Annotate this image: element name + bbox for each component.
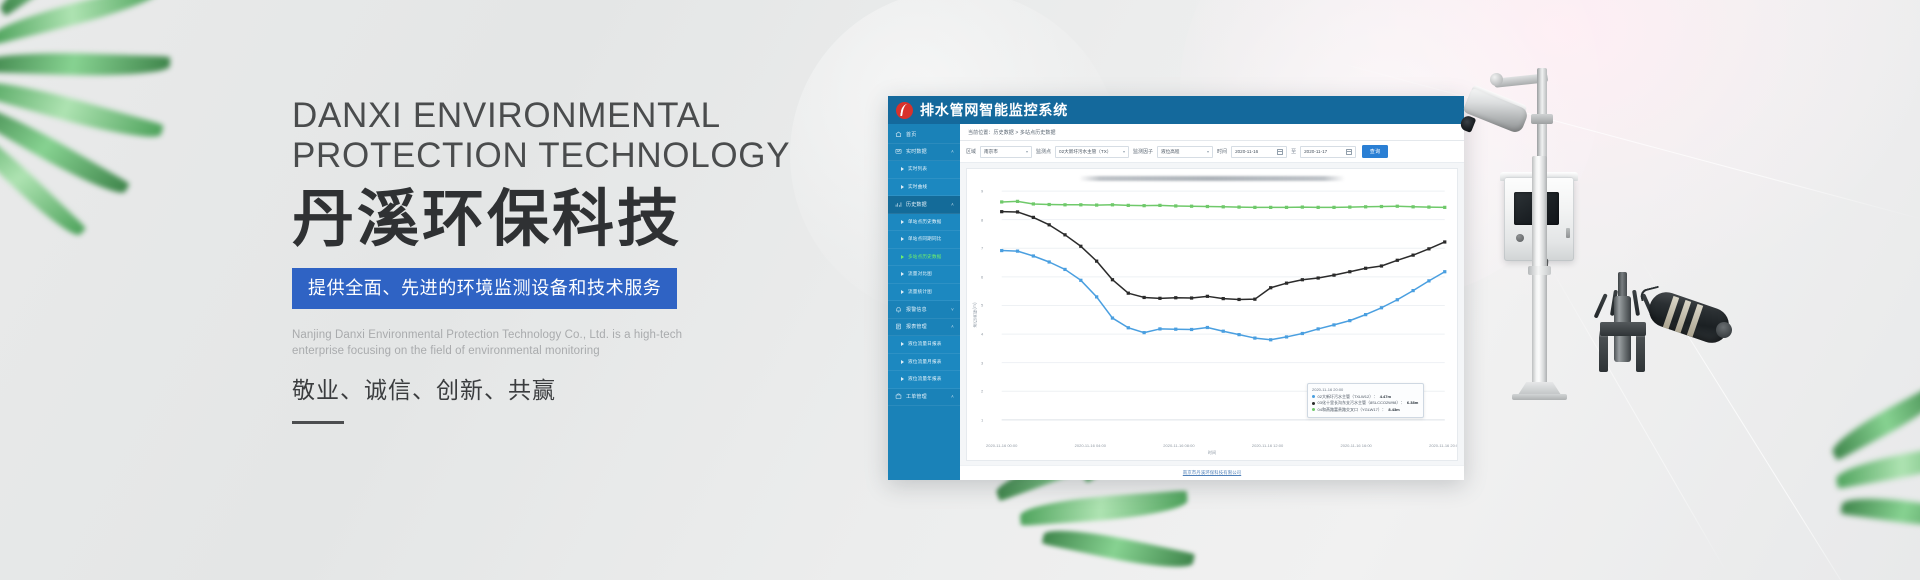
pole-base-plate (1516, 382, 1563, 398)
sensor-band (1675, 300, 1691, 333)
surveillance-camera (1462, 87, 1529, 134)
filter-toolbar[interactable]: 区域 南京市 ▾ 监测点 02大新圩污水主管（TX） ▾ 监测因子 液位高程 ▾ (960, 141, 1464, 163)
chevron-down-icon: ▾ (1026, 149, 1028, 154)
sidebar-item-label: 首页 (906, 131, 916, 138)
cabinet-cable (1539, 258, 1548, 294)
x-tick-label: 2020-11-16 20:00 (1429, 443, 1458, 448)
app-logo-icon (896, 102, 913, 119)
bullet-arrow-icon (901, 237, 904, 241)
chart-data-point[interactable] (1443, 206, 1446, 209)
chart-data-point[interactable] (1111, 278, 1114, 281)
sidebar-item-label: 液位流量年报表 (908, 376, 942, 382)
chart-data-point[interactable] (1253, 206, 1256, 209)
chart-data-point[interactable] (1301, 205, 1304, 208)
breadcrumb: 当前位置：历史数据 > 多站点历史数据 (960, 124, 1464, 141)
chart-data-point[interactable] (1285, 282, 1288, 285)
station-label: 监测点 (1036, 148, 1051, 155)
chart-data-point[interactable] (1364, 205, 1367, 208)
chart-data-point[interactable] (1111, 316, 1114, 319)
bullet-arrow-icon (901, 185, 904, 189)
sidebar-item-label: 实时数据 (906, 148, 927, 155)
tooltip-row-2: 04和燕路富贵路交叉口（YGLW17）：8.43m (1312, 407, 1418, 414)
series-color-dot (1312, 395, 1315, 398)
probe-guard-arm (1594, 293, 1608, 318)
y-tick-label: 5 (981, 303, 983, 308)
bamboo-leaf (0, 0, 130, 16)
x-tick-label: 2020-11-16 00:00 (986, 443, 1017, 448)
sidebar-item-14[interactable]: 液位流量年报表 (888, 371, 960, 389)
bamboo-leaf (1834, 442, 1920, 489)
x-tick-label: 2020-11-16 16:00 (1340, 443, 1371, 448)
chart-data-point[interactable] (1095, 203, 1098, 206)
decorative-underline (292, 421, 344, 424)
chart-data-point[interactable] (1174, 204, 1177, 207)
tooltip-time: 2020-11-16 20:00 (1312, 387, 1418, 392)
chart-data-point[interactable] (1048, 203, 1051, 206)
chart-data-point[interactable] (1063, 233, 1066, 236)
chart-data-point[interactable] (1142, 331, 1145, 334)
chart-data-point[interactable] (1032, 202, 1035, 205)
chart-data-point[interactable] (1443, 270, 1446, 273)
sidebar-item-9[interactable]: 流量统计图 (888, 284, 960, 302)
chart-data-point[interactable] (1285, 335, 1288, 338)
chart-data-point[interactable] (1443, 240, 1446, 243)
chart-data-point[interactable] (1332, 206, 1335, 209)
x-tick-label: 2020-11-16 12:00 (1252, 443, 1283, 448)
chart-data-point[interactable] (1317, 327, 1320, 330)
cabinet-display-screen (1514, 192, 1559, 225)
sidebar-item-label: 多站点历史数据 (908, 254, 942, 260)
end-date-value: 2020-11-17 (1304, 149, 1327, 154)
sidebar-item-label: 液位流量月报表 (908, 359, 942, 365)
tagline-ribbon: 提供全面、先进的环境监测设备和技术服务 (292, 268, 677, 309)
chart-data-point[interactable] (1095, 260, 1098, 263)
chart-data-point[interactable] (1063, 203, 1066, 206)
chart-data-point[interactable] (1411, 205, 1414, 208)
bamboo-leaf (0, 72, 164, 146)
sidebar-item-13[interactable]: 液位流量月报表 (888, 354, 960, 372)
control-cabinet-top (1500, 172, 1578, 181)
chart-data-point[interactable] (1111, 203, 1114, 206)
calendar-icon[interactable] (1277, 149, 1283, 155)
probe-side-leg (1599, 330, 1608, 372)
mast-clamp (1531, 114, 1553, 124)
sensor-cable (1639, 286, 1661, 302)
chart-y-axis-label: 液位高程(m) (972, 302, 978, 328)
chart-data-point[interactable] (1348, 319, 1351, 322)
time-label: 时间 (1217, 148, 1227, 155)
sidebar-item-label: 液位流量日报表 (908, 341, 942, 347)
chart-data-point[interactable] (1380, 264, 1383, 267)
mounting-pole (1532, 156, 1547, 394)
factor-value: 液位高程 (1161, 149, 1179, 155)
chart-data-point[interactable] (1032, 254, 1035, 257)
bullet-arrow-icon (901, 360, 904, 364)
bamboo-leaf-decoration-left (0, 0, 244, 276)
app-body: 首页实时数据˄实时列表实时曲线历史数据˄单站点历史数据单站点同期同比多站点历史数… (888, 124, 1464, 480)
probe-guard-arm (1610, 290, 1618, 316)
chart-data-point[interactable] (1411, 289, 1414, 292)
factor-label: 监测因子 (1133, 148, 1153, 155)
company-description: Nanjing Danxi Environmental Protection T… (292, 327, 684, 359)
chart-data-point[interactable] (1190, 296, 1193, 299)
chart-data-point[interactable] (1190, 205, 1193, 208)
sidebar-item-11[interactable]: 报表管理˄ (888, 319, 960, 337)
pole-base-feet (1512, 394, 1567, 400)
chart-data-point[interactable] (1301, 332, 1304, 335)
chart-data-point[interactable] (1000, 210, 1003, 213)
chart-data-point[interactable] (1317, 206, 1320, 209)
y-tick-label: 4 (981, 332, 983, 337)
app-content: 当前位置：历史数据 > 多站点历史数据 区域 南京市 ▾ 监测点 02大新圩污水… (960, 124, 1464, 480)
start-date-input[interactable]: 2020-11-16 (1231, 146, 1287, 158)
bell-icon (895, 306, 906, 313)
chart-data-point[interactable] (1079, 279, 1082, 282)
sidebar-item-5[interactable]: 单站点历史数据 (888, 214, 960, 232)
y-tick-label: 6 (981, 274, 983, 279)
app-sidebar[interactable]: 首页实时数据˄实时列表实时曲线历史数据˄单站点历史数据单站点同期同比多站点历史数… (888, 124, 960, 480)
chart-data-point[interactable] (1206, 205, 1209, 208)
chevron-up-icon[interactable]: ˄ (951, 202, 954, 207)
chart-data-point[interactable] (1253, 336, 1256, 339)
chart-data-point[interactable] (1396, 298, 1399, 301)
chart-data-point[interactable] (1048, 223, 1051, 226)
control-cabinet (1504, 177, 1574, 261)
chart-data-point[interactable] (1427, 279, 1430, 282)
order-icon (895, 393, 906, 400)
app-title-bar: 排水管网智能监控系统 (888, 96, 1464, 124)
chevron-down-icon[interactable]: ˅ (951, 307, 954, 312)
home-icon (895, 131, 906, 138)
sidebar-item-label: 流量对比图 (908, 271, 932, 277)
chart-data-point[interactable] (1364, 267, 1367, 270)
tooltip-series-name: 04和燕路富贵路交叉口（YGLW17）： (1318, 407, 1386, 414)
chart-data-point[interactable] (1317, 276, 1320, 279)
y-tick-label: 7 (981, 246, 983, 251)
x-tick-label: 2020-11-16 08:00 (1163, 443, 1194, 448)
chart-data-point[interactable] (1222, 205, 1225, 208)
sidebar-item-label: 实时曲线 (908, 184, 927, 190)
report-icon (895, 323, 906, 330)
chart-data-point[interactable] (1142, 204, 1145, 207)
chart-data-point[interactable] (1222, 297, 1225, 300)
series-color-dot (1312, 402, 1315, 405)
bamboo-leaf (0, 117, 86, 243)
tooltip-series-value: 6.38m (1407, 400, 1418, 407)
chart-data-point[interactable] (1142, 296, 1145, 299)
crossarm-end-cap (1490, 73, 1503, 86)
chart-data-point[interactable] (1079, 203, 1082, 206)
sidebar-item-8[interactable]: 流量对比图 (888, 266, 960, 284)
chart-tooltip: 2020-11-16 20:00 02大新圩污水主管（TXLW12）：4.47m… (1307, 383, 1424, 418)
chart-data-point[interactable] (1237, 298, 1240, 301)
sidebar-item-4[interactable]: 历史数据˄ (888, 196, 960, 214)
bamboo-leaf (0, 50, 170, 78)
series-color-dot (1312, 408, 1315, 411)
region-label: 区域 (966, 148, 976, 155)
chart-data-point[interactable] (1032, 216, 1035, 219)
y-tick-label: 8 (981, 217, 983, 222)
chart-data-point[interactable] (1380, 205, 1383, 208)
chart-data-point[interactable] (1396, 259, 1399, 262)
chart-data-point[interactable] (1127, 326, 1130, 329)
hero-copy-block: DANXI ENVIRONMENTAL PROTECTION TECHNOLOG… (292, 96, 972, 424)
sidebar-item-label: 工单管理 (906, 393, 927, 400)
english-company-name-line2: PROTECTION TECHNOLOGY (292, 136, 972, 176)
chart-data-point[interactable] (1396, 205, 1399, 208)
chart-data-point[interactable] (1190, 328, 1193, 331)
sidebar-item-label: 实时列表 (908, 166, 927, 172)
chart-x-axis-label: 时间 (1208, 450, 1216, 456)
monitoring-system-window: 排水管网智能监控系统 首页实时数据˄实时列表实时曲线历史数据˄单站点历史数据单站… (888, 96, 1464, 480)
chevron-down-icon: ▾ (1207, 149, 1209, 154)
bullet-arrow-icon (901, 342, 904, 346)
probe-stem (1618, 272, 1627, 306)
bamboo-leaf (1042, 522, 1195, 575)
chart-data-point[interactable] (1206, 326, 1209, 329)
chinese-company-name: 丹溪环保科技 (292, 185, 972, 255)
chart-data-point[interactable] (1158, 297, 1161, 300)
chart-data-point[interactable] (1332, 323, 1335, 326)
y-tick-label: 9 (981, 189, 983, 194)
app-title: 排水管网智能监控系统 (920, 100, 1068, 120)
bamboo-leaf (1019, 490, 1188, 526)
bamboo-leaf (0, 0, 161, 45)
chart-data-point[interactable] (1237, 205, 1240, 208)
hero-banner: DANXI ENVIRONMENTAL PROTECTION TECHNOLOG… (0, 0, 1920, 580)
chart-data-point[interactable] (1063, 268, 1066, 271)
app-footer: 南京市丹溪环保科技有限公司 (960, 465, 1464, 480)
start-date-value: 2020-11-16 (1235, 149, 1258, 154)
chart-data-point[interactable] (1127, 292, 1130, 295)
sensor-band (1663, 296, 1679, 329)
pole-joint (1528, 266, 1551, 275)
bullet-arrow-icon (901, 167, 904, 171)
chevron-up-icon[interactable]: ˄ (951, 149, 954, 154)
chart-data-point[interactable] (1411, 254, 1414, 257)
chart-data-point[interactable] (1348, 270, 1351, 273)
bullet-arrow-icon (901, 255, 904, 259)
bamboo-leaf (0, 95, 130, 202)
chart-data-point[interactable] (1348, 205, 1351, 208)
chart-data-point[interactable] (1016, 200, 1019, 203)
chart-data-point[interactable] (1332, 274, 1335, 277)
chart-data-point[interactable] (1095, 295, 1098, 298)
chart-data-point[interactable] (1016, 210, 1019, 213)
water-quality-probe (1614, 296, 1631, 362)
chart-series-line-2 (1002, 251, 1445, 340)
company-motto: 敬业、诚信、创新、共赢 (292, 375, 972, 405)
chart-data-point[interactable] (1364, 313, 1367, 316)
probe-guard-arm (1641, 293, 1655, 318)
chevron-up-icon[interactable]: ˄ (951, 324, 954, 329)
probe-collar (1600, 322, 1646, 336)
history-chart-card: 液位高程(m) 时间 2020-11-16 00:002020-11-16 04… (966, 168, 1458, 461)
sensor-band (1687, 304, 1703, 337)
chart-data-point[interactable] (1269, 286, 1272, 289)
region-value: 南京市 (984, 149, 998, 155)
station-select[interactable]: 02大新圩污水主管（TX） ▾ (1055, 146, 1129, 158)
bullet-arrow-icon (901, 272, 904, 276)
station-value: 02大新圩污水主管（TX） (1059, 149, 1111, 155)
chart-data-point[interactable] (1301, 278, 1304, 281)
sidebar-item-12[interactable]: 液位流量日报表 (888, 336, 960, 354)
chart-data-point[interactable] (1206, 295, 1209, 298)
factor-select[interactable]: 液位高程 ▾ (1157, 146, 1213, 158)
chart-data-point[interactable] (1269, 338, 1272, 341)
chart-data-point[interactable] (1000, 200, 1003, 203)
chart-data-point[interactable] (1158, 204, 1161, 207)
background-diagonal-line (1547, 262, 1728, 574)
chart-data-point[interactable] (1158, 327, 1161, 330)
sidebar-item-label: 流量统计图 (908, 289, 932, 295)
chart-data-point[interactable] (1000, 249, 1003, 252)
sidebar-item-6[interactable]: 单站点同期同比 (888, 231, 960, 249)
sidebar-item-7[interactable]: 多站点历史数据 (888, 249, 960, 267)
probe-side-leg (1636, 330, 1645, 372)
chart-data-point[interactable] (1253, 298, 1256, 301)
sidebar-item-label: 单站点同期同比 (908, 236, 942, 242)
cabinet-knob (1516, 234, 1524, 242)
chevron-up-icon[interactable]: ˄ (951, 394, 954, 399)
bullet-arrow-icon (901, 290, 904, 294)
calendar-icon[interactable] (1346, 149, 1352, 155)
chart-data-point[interactable] (1285, 206, 1288, 209)
probe-guard-arm (1632, 290, 1640, 316)
mast-crossarm (1494, 73, 1549, 88)
bamboo-leaf-decoration-right (1832, 400, 1920, 580)
bamboo-leaf (1827, 381, 1920, 461)
footer-company-link[interactable]: 南京市丹溪环保科技有限公司 (1183, 470, 1241, 476)
chart-data-point[interactable] (1079, 245, 1082, 248)
chart-data-point[interactable] (1174, 296, 1177, 299)
chart-data-point[interactable] (1427, 247, 1430, 250)
sidebar-item-label: 报警信息 (906, 306, 927, 313)
sidebar-item-2[interactable]: 实时列表 (888, 161, 960, 179)
background-diagonal-line (1639, 258, 1862, 580)
realtime-icon (895, 148, 906, 155)
sidebar-item-10[interactable]: 报警信息˅ (888, 301, 960, 319)
chart-data-point[interactable] (1016, 250, 1019, 253)
bamboo-leaf (1840, 492, 1920, 532)
x-tick-label: 2020-11-16 04:00 (1075, 443, 1106, 448)
chart-data-point[interactable] (1269, 206, 1272, 209)
chart-data-point[interactable] (1174, 328, 1177, 331)
chart-series-line-1 (1002, 212, 1445, 300)
chart-data-point[interactable] (1380, 306, 1383, 309)
bullet-arrow-icon (901, 220, 904, 224)
y-tick-label: 3 (981, 360, 983, 365)
english-company-name: DANXI ENVIRONMENTAL PROTECTION TECHNOLOG… (292, 96, 972, 176)
chart-data-point[interactable] (1127, 204, 1130, 207)
tooltip-rows: 02大新圩污水主管（TXLW12）：4.47m03化十里长沟东支污水主管（8SL… (1312, 394, 1418, 414)
chart-data-point[interactable] (1427, 205, 1430, 208)
y-tick-label: 1 (981, 417, 983, 422)
sidebar-item-15[interactable]: 工单管理˄ (888, 389, 960, 407)
english-company-name-line1: DANXI ENVIRONMENTAL (292, 96, 721, 135)
chart-data-point[interactable] (1237, 333, 1240, 336)
ultrasonic-level-sensor (1645, 288, 1734, 348)
y-tick-label: 2 (981, 389, 983, 394)
region-select[interactable]: 南京市 ▾ (980, 146, 1032, 158)
sensor-end-cap (1714, 320, 1734, 340)
end-date-input[interactable]: 2020-11-17 (1300, 146, 1356, 158)
sidebar-item-label: 报表管理 (906, 323, 927, 330)
tooltip-series-value: 8.43m (1388, 407, 1399, 414)
chart-data-point[interactable] (1048, 260, 1051, 263)
search-button[interactable]: 查询 (1362, 145, 1388, 158)
date-range-separator: 至 (1291, 148, 1296, 155)
camera-sunshield (1470, 84, 1527, 114)
chevron-down-icon: ▾ (1123, 149, 1125, 154)
sidebar-item-1[interactable]: 实时数据˄ (888, 144, 960, 162)
sidebar-item-label: 历史数据 (906, 201, 927, 208)
sidebar-item-3[interactable]: 实时曲线 (888, 179, 960, 197)
bullet-arrow-icon (901, 377, 904, 381)
cabinet-latch (1566, 228, 1570, 238)
sidebar-item-label: 单站点历史数据 (908, 219, 942, 225)
chart-icon (895, 201, 906, 208)
mast-upper-section (1537, 68, 1547, 164)
chart-data-point[interactable] (1222, 330, 1225, 333)
sidebar-item-0[interactable]: 首页 (888, 126, 960, 144)
